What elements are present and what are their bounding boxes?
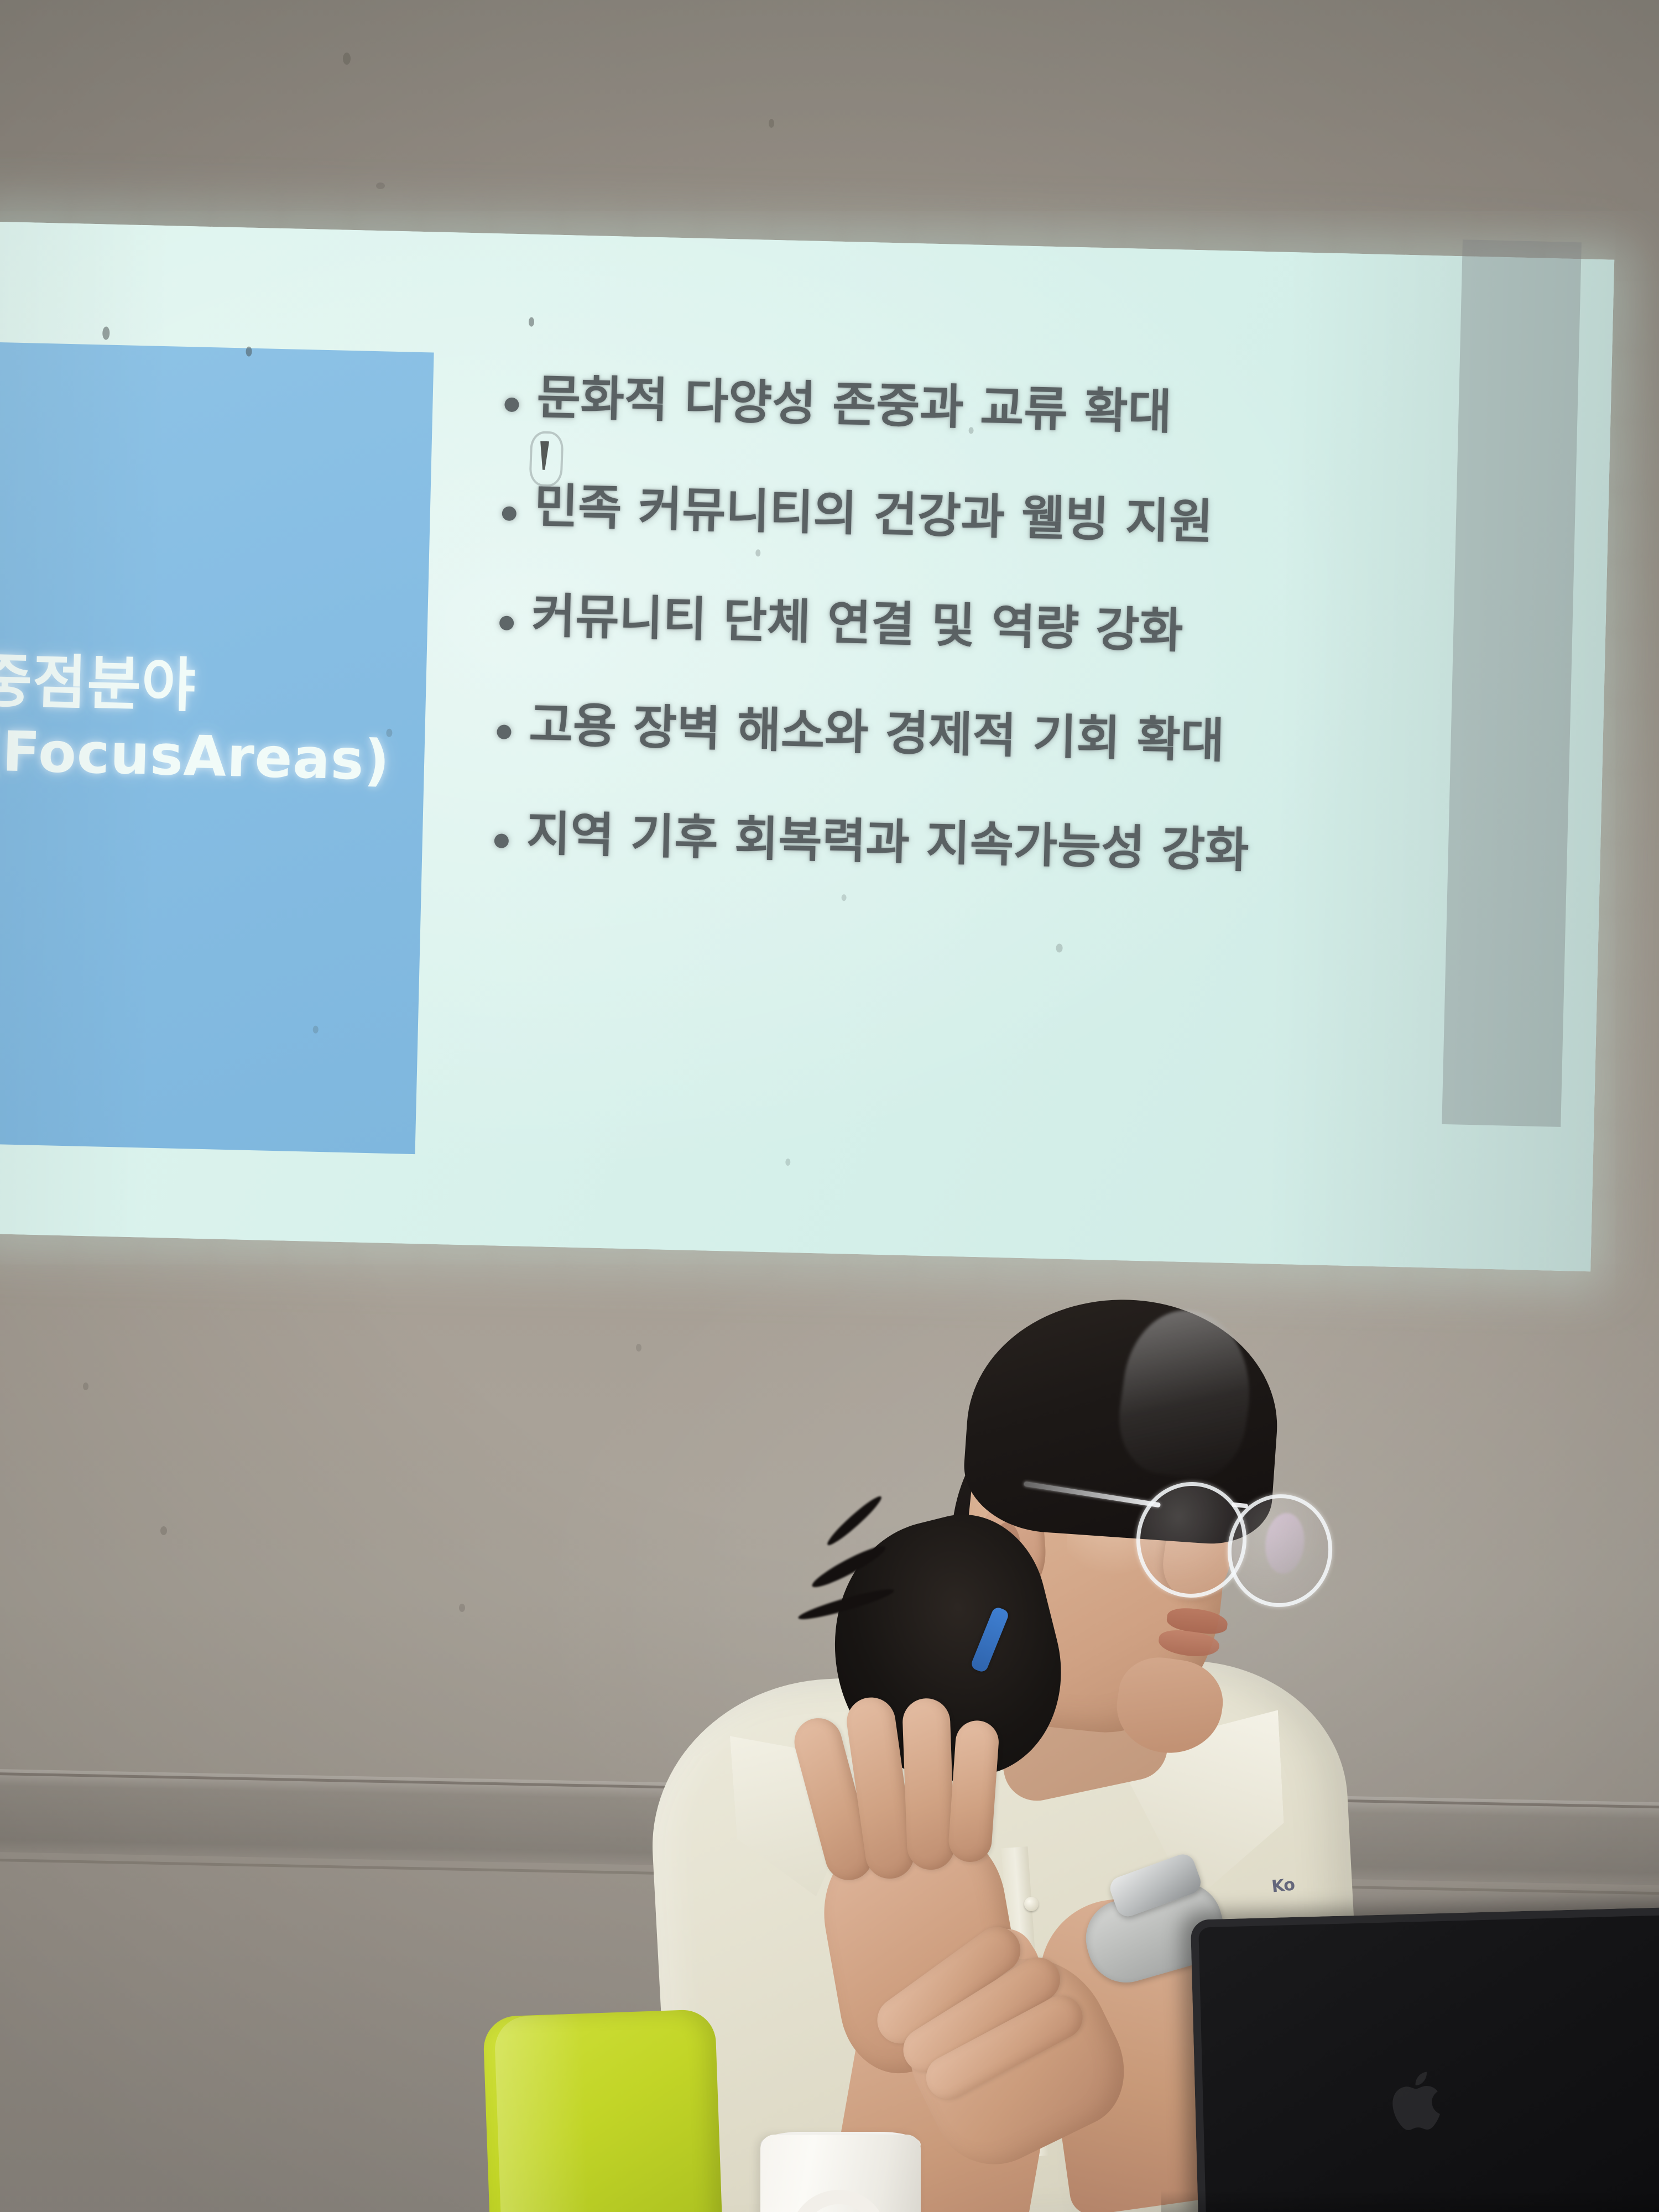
hair-wisp	[824, 1493, 885, 1549]
laptop	[1191, 1907, 1659, 2212]
presenter: Ko	[0, 0, 1659, 2212]
foreground-shadow	[1161, 2190, 1659, 2212]
finger	[902, 1698, 956, 1871]
shirt-shoulder-logo: Ko	[1271, 1872, 1323, 1902]
apple-logo-icon	[1383, 2063, 1451, 2139]
finger	[947, 1719, 1000, 1864]
laptop-lid-edge	[1191, 1907, 1659, 2212]
chair-highlight	[494, 2014, 590, 2212]
room-scene: 중점분야 (FocusAreas) 문화적 다양성 존중과 교류 확대 민족 커…	[0, 0, 1659, 2212]
